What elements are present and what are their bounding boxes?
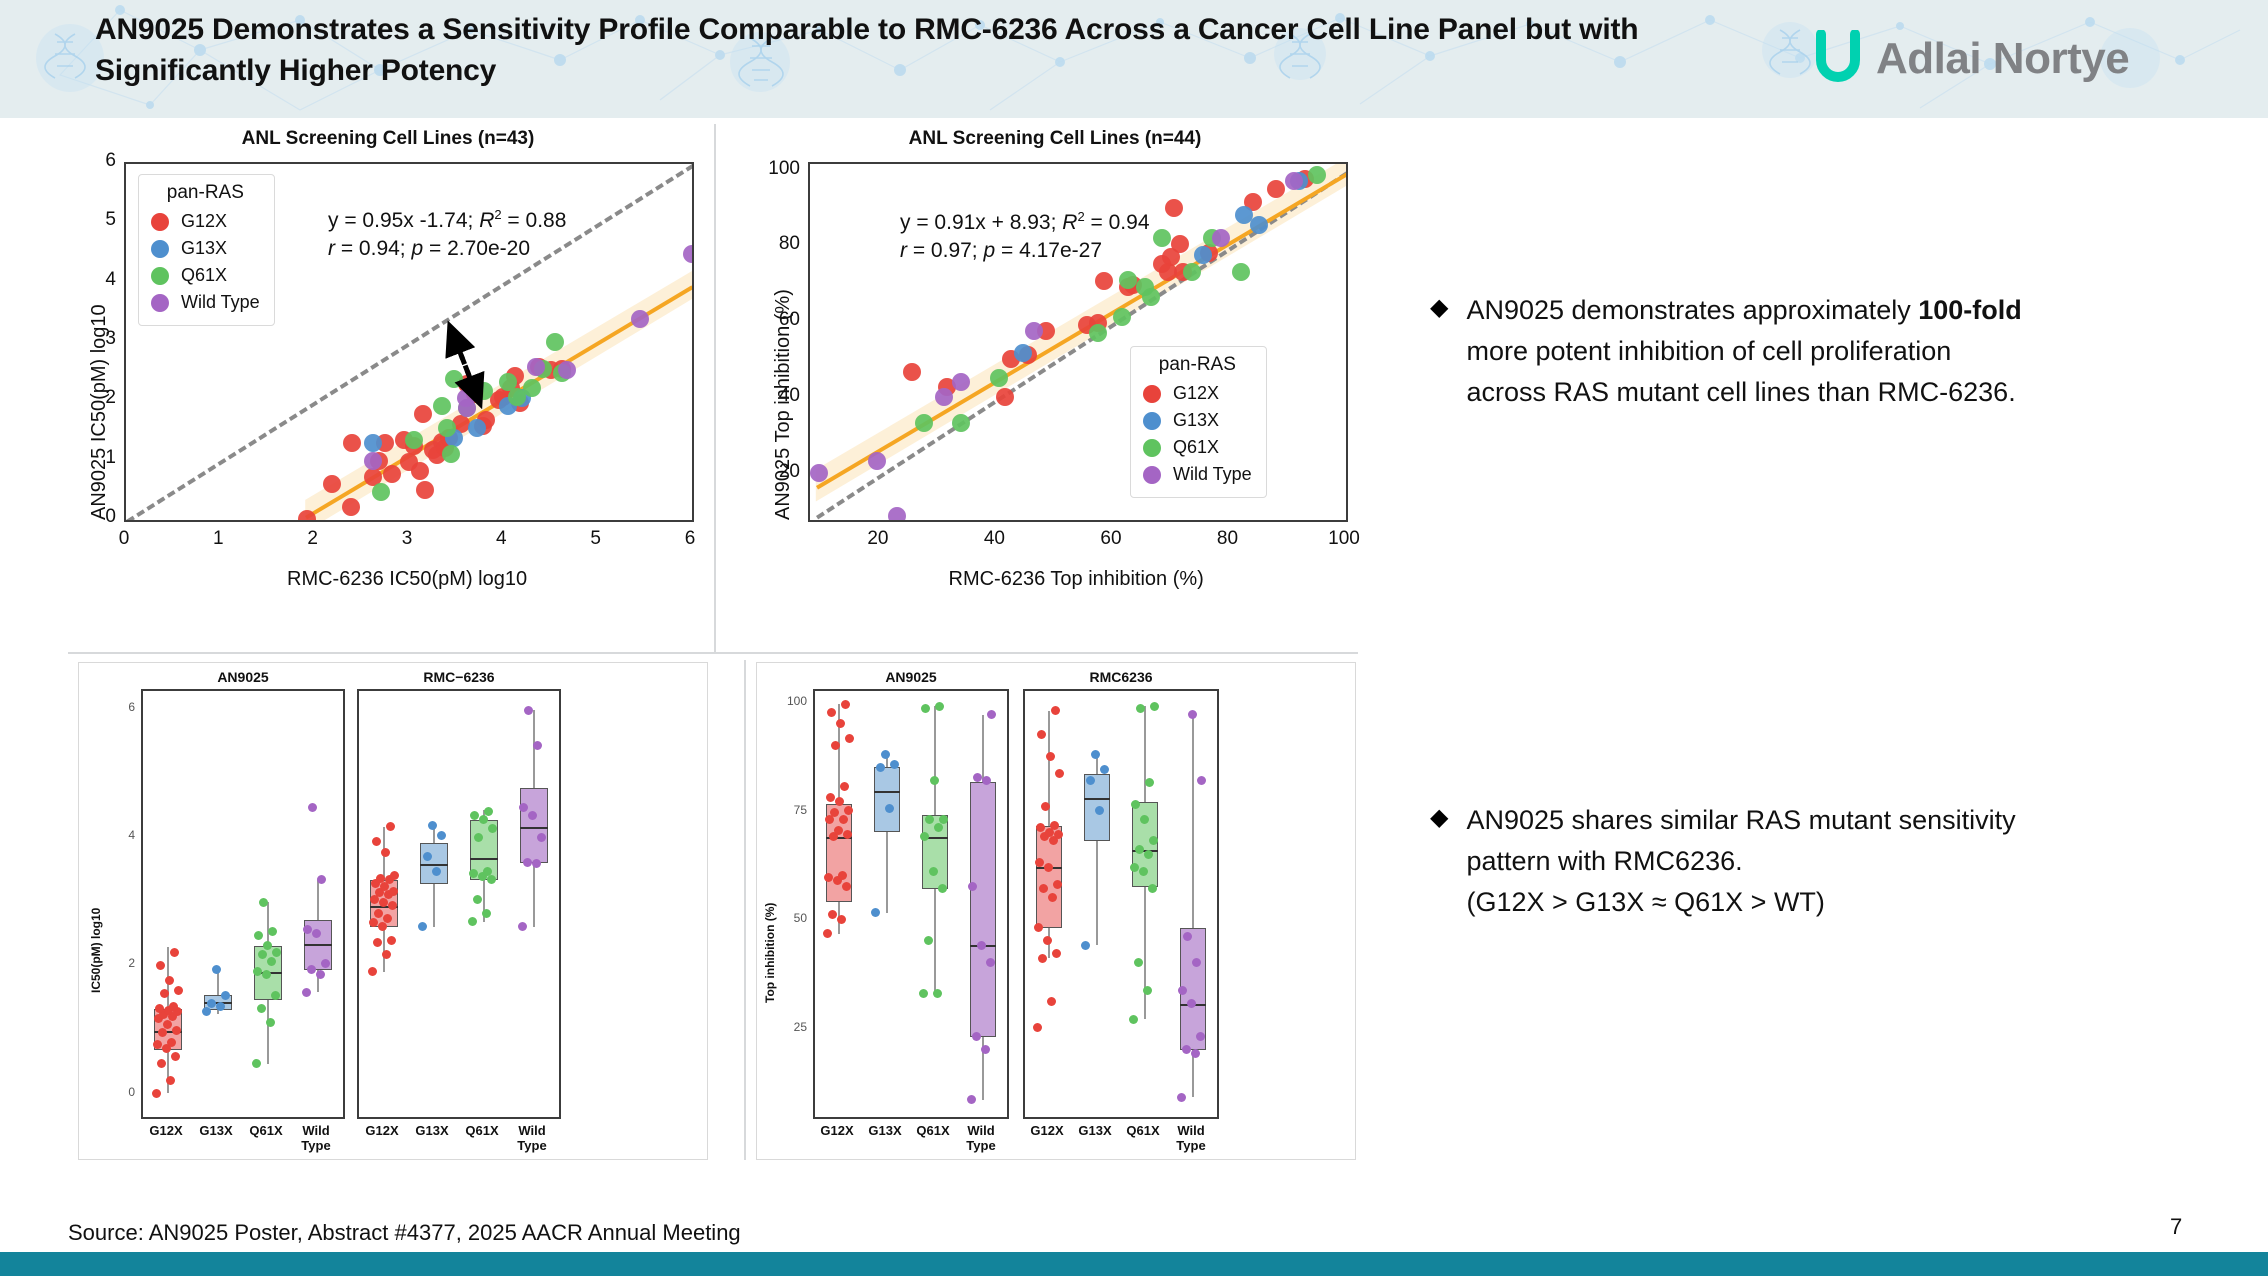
slide-header: AN9025 Demonstrates a Sensitivity Profil… bbox=[0, 0, 2268, 118]
boxplot-jitter-point bbox=[837, 915, 846, 924]
bullet-text-potency: AN9025 demonstrates approximately 100-fo… bbox=[1466, 290, 2021, 413]
company-logo: Adlai Nortye bbox=[1810, 30, 2129, 88]
boxplot-jitter-point bbox=[474, 833, 483, 842]
data-point-wild-type bbox=[1285, 172, 1303, 190]
boxplot-category-label: Q61X bbox=[241, 1123, 291, 1138]
boxplot-jitter-point bbox=[834, 826, 843, 835]
data-point-g12x bbox=[1267, 180, 1285, 198]
data-point-g12x bbox=[996, 388, 1014, 406]
boxplot-jitter-point bbox=[172, 1026, 181, 1035]
data-point-q61x bbox=[1113, 308, 1131, 326]
boxplot-jitter-point bbox=[469, 869, 478, 878]
y-tick-label: 40 bbox=[764, 385, 800, 407]
boxplot-jitter-point bbox=[930, 776, 939, 785]
boxplot-jitter-point bbox=[303, 925, 312, 934]
legend-label-q61x: Q61X bbox=[181, 265, 227, 286]
boxplot-jitter-point bbox=[1043, 936, 1052, 945]
boxplot-y-tick-label: 25 bbox=[773, 1020, 807, 1034]
boxplot-jitter-point bbox=[972, 1032, 981, 1041]
panel-divider-horizontal bbox=[68, 652, 1358, 654]
boxplot-jitter-point bbox=[382, 950, 391, 959]
boxplot-jitter-point bbox=[1148, 884, 1157, 893]
boxplot-y-tick-label: 2 bbox=[101, 956, 135, 970]
boxplot-category-label: Wild Type bbox=[957, 1123, 1005, 1153]
boxplot-jitter-point bbox=[202, 1007, 211, 1016]
boxplot-jitter-point bbox=[823, 929, 832, 938]
boxplot-jitter-point bbox=[1034, 923, 1043, 932]
diamond-bullet-icon: ◆ bbox=[1430, 800, 1448, 923]
x-tick-label: 1 bbox=[198, 528, 238, 550]
boxplot1-panel-rmc6236 bbox=[357, 689, 561, 1119]
boxplot-category-label: G12X bbox=[1023, 1123, 1071, 1138]
boxplot-jitter-point bbox=[156, 961, 165, 970]
boxplot-jitter-point bbox=[1048, 893, 1057, 902]
boxplot-jitter-point bbox=[1177, 1093, 1186, 1102]
boxplot-jitter-point bbox=[257, 1004, 266, 1013]
boxplot-median-line bbox=[1084, 798, 1111, 800]
boxplot-category-label: G13X bbox=[1071, 1123, 1119, 1138]
boxplot-jitter-point bbox=[987, 710, 996, 719]
boxplot-y-tick-label: 100 bbox=[773, 694, 807, 708]
boxplot-jitter-point bbox=[308, 803, 317, 812]
y-tick-label: 2 bbox=[80, 387, 116, 409]
y-tick-label: 1 bbox=[80, 447, 116, 469]
boxplot-jitter-point bbox=[876, 763, 885, 772]
data-point-g12x bbox=[903, 363, 921, 381]
boxplot-jitter-point bbox=[1053, 880, 1062, 889]
boxplot-jitter-point bbox=[252, 1059, 261, 1068]
boxplot-jitter-point bbox=[166, 1076, 175, 1085]
legend-title: pan-RAS bbox=[1143, 354, 1252, 376]
boxplot-category-label: G12X bbox=[357, 1123, 407, 1138]
bullet-line: across RAS mutant cell lines than RMC-62… bbox=[1466, 372, 2021, 413]
boxplot-jitter-point bbox=[321, 959, 330, 968]
boxplot-category-label: Wild Type bbox=[291, 1123, 341, 1153]
legend-label-wildtype: Wild Type bbox=[1173, 464, 1252, 485]
boxplot-jitter-point bbox=[262, 970, 271, 979]
scatter-chart-top-inhibition: ANL Screening Cell Lines (n=44) y = 0.91… bbox=[740, 128, 1370, 648]
boxplot-category-label: Q61X bbox=[909, 1123, 957, 1138]
boxplot-jitter-point bbox=[1055, 769, 1064, 778]
boxplot-category-label: Q61X bbox=[1119, 1123, 1167, 1138]
boxplot-jitter-point bbox=[1033, 1023, 1042, 1032]
legend-dot-g13x bbox=[151, 240, 169, 258]
y-tick-label: 3 bbox=[80, 328, 116, 350]
boxplot-jitter-point bbox=[165, 976, 174, 985]
x-tick-label: 80 bbox=[1207, 528, 1247, 550]
legend-label-wildtype: Wild Type bbox=[181, 292, 260, 313]
boxplot-jitter-point bbox=[986, 958, 995, 967]
boxplot-jitter-point bbox=[160, 989, 169, 998]
scatter-chart-ic50: ANL Screening Cell Lines (n=43) y = 0.95… bbox=[68, 128, 708, 648]
boxplot-jitter-point bbox=[1191, 1049, 1200, 1058]
boxplot-jitter-point bbox=[1051, 706, 1060, 715]
boxplot-jitter-point bbox=[158, 1028, 167, 1037]
boxplot-jitter-point bbox=[921, 704, 930, 713]
boxplot-jitter-point bbox=[1182, 1045, 1191, 1054]
logo-wordmark: Adlai Nortye bbox=[1876, 34, 2129, 84]
boxplot-jitter-point bbox=[423, 852, 432, 861]
x-tick-label: 40 bbox=[974, 528, 1014, 550]
legend-dot-wildtype bbox=[1143, 466, 1161, 484]
legend-dot-wildtype bbox=[151, 294, 169, 312]
boxplot-jitter-point bbox=[254, 931, 263, 940]
boxplot-median-line bbox=[874, 791, 901, 793]
boxplot2-facet-title-rmc6236: RMC6236 bbox=[1023, 669, 1219, 685]
chart2-equation-annotation: y = 0.91x + 8.93; R2 = 0.94 r = 0.97; p … bbox=[900, 208, 1150, 266]
legend-dot-q61x bbox=[151, 267, 169, 285]
boxplot-jitter-point bbox=[973, 773, 982, 782]
bullet-line: (G12X > G13X ≈ Q61X > WT) bbox=[1466, 882, 2015, 923]
boxplot-jitter-point bbox=[841, 700, 850, 709]
data-point-q61x bbox=[1119, 271, 1137, 289]
boxplot-jitter-point bbox=[828, 910, 837, 919]
boxplot-jitter-point bbox=[982, 776, 991, 785]
bullet-line: pattern with RMC6236. bbox=[1466, 841, 2015, 882]
boxplot-jitter-point bbox=[1052, 949, 1061, 958]
boxplot-jitter-point bbox=[1131, 800, 1140, 809]
boxplot-jitter-point bbox=[881, 750, 890, 759]
boxplot-jitter-point bbox=[390, 871, 399, 880]
x-tick-label: 4 bbox=[481, 528, 521, 550]
boxplot-category-label: G13X bbox=[407, 1123, 457, 1138]
boxplot-y-tick-label: 4 bbox=[101, 828, 135, 842]
boxplot-jitter-point bbox=[170, 948, 179, 957]
y-tick-label: 60 bbox=[764, 309, 800, 331]
boxplot-jitter-point bbox=[155, 1004, 164, 1013]
legend-item-g13x: G13X bbox=[151, 235, 260, 262]
bullet-text-pattern: AN9025 shares similar RAS mutant sensiti… bbox=[1466, 800, 2015, 923]
page-title: AN9025 Demonstrates a Sensitivity Profil… bbox=[95, 10, 1735, 92]
boxplot-jitter-point bbox=[826, 793, 835, 802]
boxplot-category-label: Wild Type bbox=[507, 1123, 557, 1153]
boxplot-jitter-point bbox=[924, 936, 933, 945]
boxplot-jitter-point bbox=[1196, 1032, 1205, 1041]
boxplot-jitter-point bbox=[827, 708, 836, 717]
boxplot-jitter-point bbox=[1054, 830, 1063, 839]
boxplot-jitter-point bbox=[484, 807, 493, 816]
boxplot-jitter-point bbox=[523, 858, 532, 867]
y-tick-label: 100 bbox=[764, 158, 800, 180]
boxplot-jitter-point bbox=[1050, 821, 1059, 830]
boxplot-jitter-point bbox=[885, 804, 894, 813]
bullet-item-pattern: ◆ AN9025 shares similar RAS mutant sensi… bbox=[1430, 800, 2230, 923]
boxplot-category-label: Wild Type bbox=[1167, 1123, 1215, 1153]
chart1-legend: pan-RAS G12X G13X Q61X Wild Type bbox=[138, 174, 275, 326]
boxplot-box-wild-type bbox=[520, 788, 548, 862]
boxplot-category-label: G12X bbox=[141, 1123, 191, 1138]
data-point-wild-type bbox=[1025, 322, 1043, 340]
boxplot-jitter-point bbox=[933, 989, 942, 998]
boxplot-jitter-point bbox=[935, 702, 944, 711]
y-tick-label: 20 bbox=[764, 461, 800, 483]
boxplot-jitter-point bbox=[1047, 997, 1056, 1006]
boxplot-chart-top-inhibition: AN9025 RMC6236 Top inhibition (%) G12XG1… bbox=[756, 662, 1356, 1160]
boxplot-jitter-point bbox=[939, 815, 948, 824]
legend-dot-g13x bbox=[1143, 412, 1161, 430]
data-point-wild-type bbox=[888, 507, 906, 522]
boxplot-jitter-point bbox=[1192, 958, 1201, 967]
y-tick-label: 6 bbox=[80, 150, 116, 172]
chart2-legend: pan-RAS G12X G13X Q61X Wild Type bbox=[1130, 346, 1267, 498]
boxplot1-facet-title-an9025: AN9025 bbox=[141, 669, 345, 685]
boxplot-jitter-point bbox=[537, 833, 546, 842]
x-tick-label: 100 bbox=[1324, 528, 1364, 550]
data-point-g12x bbox=[1165, 199, 1183, 217]
legend-label-g12x: G12X bbox=[1173, 383, 1219, 404]
boxplot-chart-ic50: AN9025 RMC−6236 IC50(pM) log10 G12XG13XQ… bbox=[78, 662, 708, 1160]
boxplot-jitter-point bbox=[479, 815, 488, 824]
bullet-line: AN9025 shares similar RAS mutant sensiti… bbox=[1466, 800, 2015, 841]
boxplot-jitter-point bbox=[1150, 702, 1159, 711]
boxplot-jitter-point bbox=[845, 734, 854, 743]
legend-item-wildtype: Wild Type bbox=[1143, 461, 1252, 488]
boxplot-jitter-point bbox=[221, 991, 230, 1000]
boxplot-jitter-point bbox=[312, 929, 321, 938]
boxplot-jitter-point bbox=[1144, 850, 1153, 859]
boxplot-jitter-point bbox=[840, 782, 849, 791]
x-tick-label: 20 bbox=[858, 528, 898, 550]
boxplot-jitter-point bbox=[1100, 765, 1109, 774]
source-citation: Source: AN9025 Poster, Abstract #4377, 2… bbox=[68, 1220, 741, 1246]
boxplot-jitter-point bbox=[1041, 802, 1050, 811]
x-tick-label: 2 bbox=[293, 528, 333, 550]
boxplot-median-line bbox=[470, 858, 498, 860]
boxplot-jitter-point bbox=[1129, 1015, 1138, 1024]
boxplot-jitter-point bbox=[272, 948, 281, 957]
boxplot-jitter-point bbox=[1044, 863, 1053, 872]
boxplot-jitter-point bbox=[373, 938, 382, 947]
boxplot-jitter-point bbox=[368, 967, 377, 976]
boxplot-y-tick-label: 75 bbox=[773, 803, 807, 817]
panel-divider-vertical-top bbox=[714, 124, 716, 654]
boxplot-jitter-point bbox=[482, 909, 491, 918]
data-point-q61x bbox=[1183, 263, 1201, 281]
boxplot-box-g13x bbox=[874, 767, 901, 832]
boxplot-jitter-point bbox=[383, 914, 392, 923]
boxplot-jitter-point bbox=[929, 867, 938, 876]
boxplot-category-label: G13X bbox=[191, 1123, 241, 1138]
boxplot2-panel-an9025 bbox=[813, 689, 1009, 1119]
boxplot-jitter-point bbox=[1046, 752, 1055, 761]
boxplot-median-line bbox=[520, 827, 548, 829]
boxplot1-panel-an9025 bbox=[141, 689, 345, 1119]
boxplot-jitter-point bbox=[1038, 954, 1047, 963]
boxplot-jitter-point bbox=[372, 837, 381, 846]
boxplot-jitter-point bbox=[524, 706, 533, 715]
boxplot-jitter-point bbox=[533, 741, 542, 750]
boxplot-jitter-point bbox=[259, 898, 268, 907]
boxplot-jitter-point bbox=[171, 1052, 180, 1061]
boxplot-category-label: Q61X bbox=[457, 1123, 507, 1138]
boxplot-jitter-point bbox=[157, 1059, 166, 1068]
boxplot-jitter-point bbox=[212, 965, 221, 974]
legend-item-q61x: Q61X bbox=[151, 262, 260, 289]
boxplot-jitter-point bbox=[174, 986, 183, 995]
legend-item-wildtype: Wild Type bbox=[151, 289, 260, 316]
boxplot-jitter-point bbox=[267, 957, 276, 966]
data-point-wild-type bbox=[810, 464, 828, 482]
boxplot-jitter-point bbox=[1081, 941, 1090, 950]
boxplot-y-tick-label: 50 bbox=[773, 911, 807, 925]
boxplot-jitter-point bbox=[386, 822, 395, 831]
x-tick-label: 0 bbox=[104, 528, 144, 550]
boxplot-jitter-point bbox=[316, 970, 325, 979]
boxplot1-facet-title-rmc6236: RMC−6236 bbox=[357, 669, 561, 685]
chart1-x-axis-label: RMC-6236 IC50(pM) log10 bbox=[287, 568, 527, 591]
boxplot-jitter-point bbox=[938, 884, 947, 893]
boxplot-jitter-point bbox=[1140, 815, 1149, 824]
boxplot-y-tick-label: 0 bbox=[101, 1085, 135, 1099]
boxplot-jitter-point bbox=[1037, 730, 1046, 739]
page-number: 7 bbox=[2170, 1214, 2182, 1240]
boxplot-jitter-point bbox=[871, 908, 880, 917]
boxplot-jitter-point bbox=[271, 991, 280, 1000]
data-point-q61x bbox=[1232, 263, 1250, 281]
y-tick-label: 80 bbox=[764, 233, 800, 255]
y-tick-label: 4 bbox=[80, 269, 116, 291]
x-tick-label: 3 bbox=[387, 528, 427, 550]
y-tick-label: 0 bbox=[80, 506, 116, 528]
legend-label-g12x: G12X bbox=[181, 211, 227, 232]
boxplot-jitter-point bbox=[387, 936, 396, 945]
boxplot2-facet-title-an9025: AN9025 bbox=[813, 669, 1009, 685]
boxplot1-y-axis-label: IC50(pM) log10 bbox=[89, 908, 103, 993]
boxplot-jitter-point bbox=[169, 1002, 178, 1011]
legend-item-g13x: G13X bbox=[1143, 407, 1252, 434]
boxplot-jitter-point bbox=[378, 922, 387, 931]
boxplot-jitter-point bbox=[376, 874, 385, 883]
boxplot-jitter-point bbox=[268, 927, 277, 936]
x-tick-label: 6 bbox=[670, 528, 710, 550]
boxplot-jitter-point bbox=[1143, 986, 1152, 995]
bullet-line: more potent inhibition of cell prolifera… bbox=[1466, 331, 2021, 372]
y-tick-label: 5 bbox=[80, 209, 116, 231]
boxplot-jitter-point bbox=[216, 1002, 225, 1011]
boxplot-jitter-point bbox=[518, 922, 527, 931]
boxplot-jitter-point bbox=[381, 848, 390, 857]
chart2-x-axis-label: RMC-6236 Top inhibition (%) bbox=[949, 568, 1204, 591]
boxplot-jitter-point bbox=[167, 1038, 176, 1047]
chart1-title: ANL Screening Cell Lines (n=43) bbox=[68, 128, 708, 150]
boxplot-jitter-point bbox=[967, 1095, 976, 1104]
chart2-title: ANL Screening Cell Lines (n=44) bbox=[740, 128, 1370, 150]
adlai-nortye-u-mark bbox=[1810, 30, 1866, 88]
x-tick-label: 5 bbox=[576, 528, 616, 550]
boxplot-jitter-point bbox=[1197, 776, 1206, 785]
boxplot-jitter-point bbox=[981, 1045, 990, 1054]
boxplot-jitter-point bbox=[468, 917, 477, 926]
boxplot-jitter-point bbox=[1095, 806, 1104, 815]
legend-dot-g12x bbox=[1143, 385, 1161, 403]
boxplot-jitter-point bbox=[418, 922, 427, 931]
boxplot-jitter-point bbox=[1188, 710, 1197, 719]
boxplot-jitter-point bbox=[163, 1020, 172, 1029]
boxplot-jitter-point bbox=[1086, 776, 1095, 785]
footer-accent-bar bbox=[0, 1252, 2268, 1276]
bullet-line: AN9025 demonstrates approximately 100-fo… bbox=[1466, 290, 2021, 331]
data-point-wild-type bbox=[935, 388, 953, 406]
legend-item-q61x: Q61X bbox=[1143, 434, 1252, 461]
boxplot-jitter-point bbox=[532, 859, 541, 868]
legend-dot-q61x bbox=[1143, 439, 1161, 457]
data-point-q61x bbox=[1089, 324, 1107, 342]
boxplot-jitter-point bbox=[389, 887, 398, 896]
boxplot-jitter-point bbox=[1145, 778, 1154, 787]
boxplot-jitter-point bbox=[844, 806, 853, 815]
boxplot-jitter-point bbox=[470, 811, 479, 820]
boxplot2-panel-rmc6236 bbox=[1023, 689, 1219, 1119]
boxplot-jitter-point bbox=[919, 989, 928, 998]
panel-divider-vertical-bottom bbox=[744, 660, 746, 1160]
boxplot-category-label: G12X bbox=[813, 1123, 861, 1138]
boxplot-jitter-point bbox=[317, 875, 326, 884]
bullet-item-potency: ◆ AN9025 demonstrates approximately 100-… bbox=[1430, 290, 2230, 413]
boxplot-jitter-point bbox=[839, 815, 848, 824]
boxplot-jitter-point bbox=[925, 815, 934, 824]
legend-label-g13x: G13X bbox=[181, 238, 227, 259]
boxplot-jitter-point bbox=[307, 965, 316, 974]
boxplot-median-line bbox=[420, 864, 448, 866]
chart1-equation-annotation: y = 0.95x -1.74; R2 = 0.88 r = 0.94; p =… bbox=[328, 206, 566, 264]
legend-item-g12x: G12X bbox=[1143, 380, 1252, 407]
boxplot-jitter-point bbox=[152, 1089, 161, 1098]
boxplot-category-label: G13X bbox=[861, 1123, 909, 1138]
x-tick-label: 60 bbox=[1091, 528, 1131, 550]
boxplot-jitter-point bbox=[428, 821, 437, 830]
data-point-g13x bbox=[1014, 344, 1032, 362]
boxplot-jitter-point bbox=[1139, 867, 1148, 876]
boxplot-jitter-point bbox=[1130, 863, 1139, 872]
boxplot-jitter-point bbox=[473, 895, 482, 904]
data-point-wild-type bbox=[1212, 229, 1230, 247]
boxplot-median-line bbox=[304, 944, 332, 946]
boxplot-jitter-point bbox=[1091, 750, 1100, 759]
data-point-q61x bbox=[1142, 288, 1160, 306]
legend-label-q61x: Q61X bbox=[1173, 437, 1219, 458]
boxplot-y-tick-label: 6 bbox=[101, 700, 135, 714]
boxplot-jitter-point bbox=[487, 875, 496, 884]
boxplot-jitter-point bbox=[836, 719, 845, 728]
boxplot-jitter-point bbox=[843, 830, 852, 839]
diamond-bullet-icon: ◆ bbox=[1430, 290, 1448, 413]
boxplot-jitter-point bbox=[379, 898, 388, 907]
data-point-g12x bbox=[1171, 235, 1189, 253]
legend-item-g12x: G12X bbox=[151, 208, 260, 235]
boxplot-jitter-point bbox=[1136, 704, 1145, 713]
boxplot-jitter-point bbox=[831, 741, 840, 750]
boxplot-jitter-point bbox=[302, 988, 311, 997]
boxplot-jitter-point bbox=[388, 901, 397, 910]
legend-title: pan-RAS bbox=[151, 182, 260, 204]
boxplot-jitter-point bbox=[437, 831, 446, 840]
data-point-g13x bbox=[1250, 216, 1268, 234]
boxplot-jitter-point bbox=[977, 941, 986, 950]
legend-label-g13x: G13X bbox=[1173, 410, 1219, 431]
data-point-q61x bbox=[915, 414, 933, 432]
boxplot-jitter-point bbox=[266, 1018, 275, 1027]
boxplot-box-wild-type bbox=[970, 782, 997, 1036]
legend-dot-g12x bbox=[151, 213, 169, 231]
boxplot-jitter-point bbox=[1134, 958, 1143, 967]
boxplot-jitter-point bbox=[842, 882, 851, 891]
